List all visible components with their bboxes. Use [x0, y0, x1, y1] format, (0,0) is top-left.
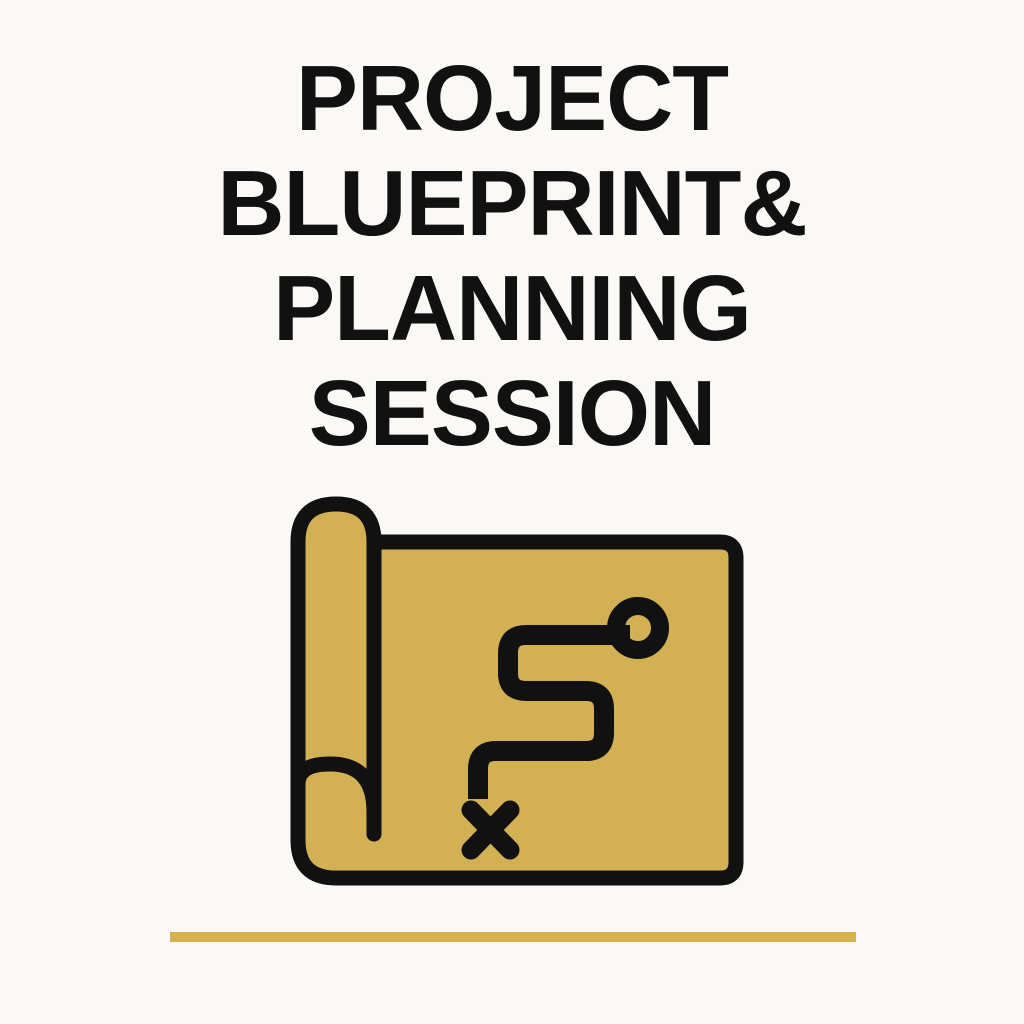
title-line-2: BLUEPRINT&: [0, 151, 1024, 256]
title-line-4: SESSION: [0, 361, 1024, 466]
accent-divider: [170, 932, 856, 942]
poster-canvas: PROJECT BLUEPRINT& PLANNING SESSION: [0, 0, 1024, 1024]
scroll-roll-group: [298, 504, 374, 840]
scroll-roll-tube: [298, 504, 374, 840]
rolled-blueprint-icon-svg: [268, 482, 756, 894]
title-line-3: PLANNING: [0, 256, 1024, 361]
title-line-1: PROJECT: [0, 46, 1024, 151]
blueprint-map-icon: [268, 482, 756, 894]
page-title: PROJECT BLUEPRINT& PLANNING SESSION: [0, 46, 1024, 466]
